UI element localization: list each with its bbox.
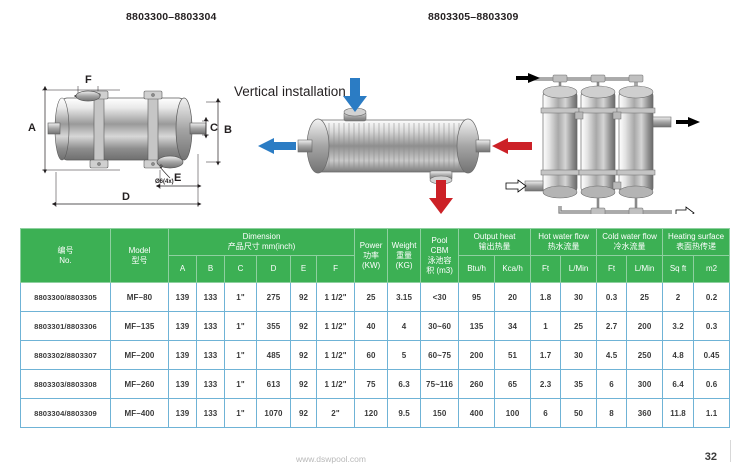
- cell-e: 92: [291, 399, 317, 428]
- cell-no: 8803300/8803305: [21, 283, 111, 312]
- cell-no: 8803301/8803306: [21, 312, 111, 341]
- header-heating-surface-group: Heating surface 表面热传递: [663, 229, 730, 256]
- website-url: www.dswpool.com: [296, 454, 366, 464]
- flow-arrow-outlet-right: [676, 117, 700, 127]
- cell-power: 40: [355, 312, 388, 341]
- header-cold-lmin: L/Min: [627, 256, 663, 283]
- cell-power: 25: [355, 283, 388, 312]
- cell-weight: 3.15: [388, 283, 421, 312]
- cell-cold-ft: 8: [597, 399, 627, 428]
- cell-kca: 34: [495, 312, 531, 341]
- cell-f: 1 1/2": [317, 283, 355, 312]
- cell-b: 133: [197, 283, 225, 312]
- cell-weight: 5: [388, 341, 421, 370]
- cell-model: MF–200: [111, 341, 169, 370]
- cell-e: 92: [291, 341, 317, 370]
- cell-weight: 6.3: [388, 370, 421, 399]
- flow-arrow-hot-in: [492, 138, 532, 154]
- cell-cold-ft: 0.3: [597, 283, 627, 312]
- table-row: 8803303/8803308 MF–260 139 133 1" 613 92…: [21, 370, 730, 399]
- cell-pool: 75~116: [421, 370, 459, 399]
- cell-d: 613: [257, 370, 291, 399]
- finned-heat-exchanger-drawing: [258, 78, 532, 214]
- cell-pool: 30~60: [421, 312, 459, 341]
- cell-f: 1 1/2": [317, 312, 355, 341]
- header-model: Model 型号: [111, 229, 169, 283]
- cell-hot-ft: 1.8: [531, 283, 561, 312]
- cell-cold-lmin: 200: [627, 312, 663, 341]
- cell-c: 1": [225, 341, 257, 370]
- cell-model: MF–400: [111, 399, 169, 428]
- header-output-btu: Btu/h: [459, 256, 495, 283]
- cell-d: 1070: [257, 399, 291, 428]
- cell-cold-lmin: 25: [627, 283, 663, 312]
- header-hot-water-flow-group: Hot water flow 热水流量: [531, 229, 597, 256]
- cell-cold-lmin: 250: [627, 341, 663, 370]
- cell-sqft: 2: [663, 283, 694, 312]
- cell-m2: 0.2: [694, 283, 730, 312]
- cell-btu: 200: [459, 341, 495, 370]
- cell-btu: 135: [459, 312, 495, 341]
- cell-c: 1": [225, 370, 257, 399]
- cell-d: 355: [257, 312, 291, 341]
- table-row: 8803301/8803306 MF–135 139 133 1" 355 92…: [21, 312, 730, 341]
- flow-arrow-cold-in: [343, 78, 367, 112]
- page-edge-rule: [730, 440, 731, 462]
- cell-weight: 4: [388, 312, 421, 341]
- cell-b: 133: [197, 370, 225, 399]
- table-row: 8803302/8803307 MF–200 139 133 1" 485 92…: [21, 341, 730, 370]
- cell-hot-ft: 2.3: [531, 370, 561, 399]
- cell-sqft: 4.8: [663, 341, 694, 370]
- flow-arrow-inlet-top: [516, 73, 540, 83]
- cell-b: 133: [197, 399, 225, 428]
- caption-left-model-range: 8803300–8803304: [126, 11, 217, 23]
- cell-sqft: 6.4: [663, 370, 694, 399]
- page-footer: www.dswpool.com 32: [0, 448, 739, 462]
- hole-note-label: Ø6(4x): [155, 179, 174, 185]
- cell-model: MF–80: [111, 283, 169, 312]
- header-sqft: Sq ft: [663, 256, 694, 283]
- header-pool-cbm: Pool CBM 泳池容 积 (m3): [421, 229, 459, 283]
- header-output-kca: Kca/h: [495, 256, 531, 283]
- cell-m2: 0.6: [694, 370, 730, 399]
- cell-m2: 0.3: [694, 312, 730, 341]
- header-m2: m2: [694, 256, 730, 283]
- page-number: 32: [705, 451, 717, 463]
- cell-power: 75: [355, 370, 388, 399]
- header-dim-e: E: [291, 256, 317, 283]
- cell-weight: 9.5: [388, 399, 421, 428]
- header-no: 编号 No.: [21, 229, 111, 283]
- cell-kca: 51: [495, 341, 531, 370]
- cell-cold-lmin: 360: [627, 399, 663, 428]
- cell-power: 60: [355, 341, 388, 370]
- cell-hot-lmin: 30: [561, 283, 597, 312]
- cell-kca: 100: [495, 399, 531, 428]
- cell-btu: 400: [459, 399, 495, 428]
- flow-arrow-inlet-bottom-left: [506, 180, 526, 192]
- header-weight: Weight 重量 (KG): [388, 229, 421, 283]
- cell-btu: 95: [459, 283, 495, 312]
- cell-e: 92: [291, 312, 317, 341]
- cell-a: 139: [169, 341, 197, 370]
- flow-arrow-hot-out: [429, 180, 453, 214]
- cell-hot-lmin: 50: [561, 399, 597, 428]
- cell-cold-ft: 2.7: [597, 312, 627, 341]
- cell-a: 139: [169, 399, 197, 428]
- dimension-label-f: F: [85, 74, 92, 86]
- cell-m2: 0.45: [694, 341, 730, 370]
- dimension-label-a: A: [28, 122, 36, 134]
- cell-power: 120: [355, 399, 388, 428]
- cell-hot-ft: 1.7: [531, 341, 561, 370]
- caption-right-model-range: 8803305–8803309: [428, 11, 519, 23]
- cell-kca: 20: [495, 283, 531, 312]
- vertical-installation-drawing: [506, 73, 700, 214]
- horizontal-heat-exchanger-drawing: [42, 86, 221, 207]
- cell-hot-ft: 1: [531, 312, 561, 341]
- flow-arrow-outlet-bottom-right: [676, 207, 694, 214]
- cell-m2: 1.1: [694, 399, 730, 428]
- header-output-heat-group: Output heat 输出热量: [459, 229, 531, 256]
- cell-sqft: 11.8: [663, 399, 694, 428]
- cell-hot-ft: 6: [531, 399, 561, 428]
- table-header-row-1: 编号 No. Model 型号 Dimension 产品尺寸 mm(inch) …: [21, 229, 730, 256]
- header-cold-ft: Ft: [597, 256, 627, 283]
- cell-hot-lmin: 30: [561, 341, 597, 370]
- cell-cold-ft: 6: [597, 370, 627, 399]
- cell-b: 133: [197, 341, 225, 370]
- header-dim-a: A: [169, 256, 197, 283]
- cell-f: 1 1/2": [317, 341, 355, 370]
- cell-e: 92: [291, 370, 317, 399]
- table-row: 8803300/8803305 MF–80 139 133 1" 275 92 …: [21, 283, 730, 312]
- cell-d: 485: [257, 341, 291, 370]
- cell-f: 2": [317, 399, 355, 428]
- cell-no: 8803303/8803308: [21, 370, 111, 399]
- cell-sqft: 3.2: [663, 312, 694, 341]
- table-row: 8803304/8803309 MF–400 139 133 1" 1070 9…: [21, 399, 730, 428]
- cell-f: 1 1/2": [317, 370, 355, 399]
- cell-pool: <30: [421, 283, 459, 312]
- cell-d: 275: [257, 283, 291, 312]
- dimension-label-d: D: [122, 191, 130, 203]
- cell-cold-lmin: 300: [627, 370, 663, 399]
- diagram-captions: 8803300–8803304 8803305–8803309: [0, 11, 739, 27]
- cell-hot-lmin: 25: [561, 312, 597, 341]
- dimension-label-b: B: [224, 124, 232, 136]
- header-dim-b: B: [197, 256, 225, 283]
- cell-kca: 65: [495, 370, 531, 399]
- specification-table: 编号 No. Model 型号 Dimension 产品尺寸 mm(inch) …: [20, 228, 730, 428]
- cell-c: 1": [225, 399, 257, 428]
- cell-a: 139: [169, 283, 197, 312]
- cell-b: 133: [197, 312, 225, 341]
- cell-c: 1": [225, 312, 257, 341]
- cell-cold-ft: 4.5: [597, 341, 627, 370]
- header-dim-d: D: [257, 256, 291, 283]
- cell-btu: 260: [459, 370, 495, 399]
- cell-a: 139: [169, 370, 197, 399]
- cell-no: 8803302/8803307: [21, 341, 111, 370]
- cell-model: MF–135: [111, 312, 169, 341]
- diagram-band: Vertical installation: [0, 34, 739, 214]
- cell-hot-lmin: 35: [561, 370, 597, 399]
- cell-model: MF–260: [111, 370, 169, 399]
- header-hot-lmin: L/Min: [561, 256, 597, 283]
- cell-c: 1": [225, 283, 257, 312]
- cell-a: 139: [169, 312, 197, 341]
- header-hot-ft: Ft: [531, 256, 561, 283]
- dimension-label-e: E: [174, 172, 181, 184]
- table-body: 8803300/8803305 MF–80 139 133 1" 275 92 …: [21, 283, 730, 428]
- diagram-vector-art: [0, 34, 739, 214]
- header-power: Power 功率 (KW): [355, 229, 388, 283]
- cell-e: 92: [291, 283, 317, 312]
- cell-no: 8803304/8803309: [21, 399, 111, 428]
- header-dim-c: C: [225, 256, 257, 283]
- header-dim-f: F: [317, 256, 355, 283]
- header-cold-water-flow-group: Cold water flow 冷水流量: [597, 229, 663, 256]
- header-dimension-group: Dimension 产品尺寸 mm(inch): [169, 229, 355, 256]
- dimension-label-c: C: [210, 122, 218, 134]
- cell-pool: 60~75: [421, 341, 459, 370]
- cell-pool: 150: [421, 399, 459, 428]
- flow-arrow-cold-out: [258, 138, 296, 154]
